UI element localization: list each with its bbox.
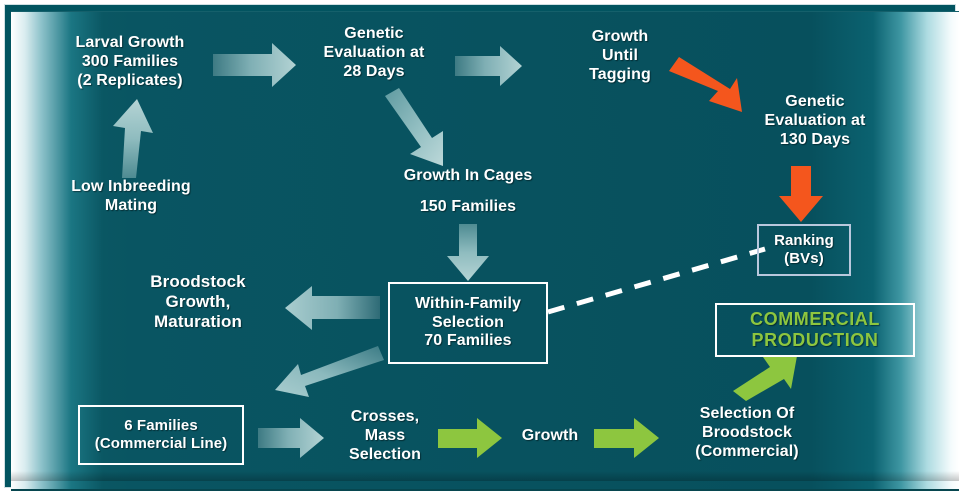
diagram-canvas: Larval Growth 300 Families (2 Replicates…	[0, 0, 960, 492]
node-ranking-bvs-label: Ranking (BVs)	[774, 232, 834, 267]
node-growth-in-cages: Growth In Cages	[378, 167, 558, 186]
node-selection-of-broodstock-commercial: Selection Of Broodstock (Commercial)	[662, 405, 832, 462]
node-growth-until-tagging: Growth Until Tagging	[560, 28, 680, 85]
node-commercial-production-label: COMMERCIAL PRODUCTION	[750, 309, 880, 351]
node-six-families-label: 6 Families (Commercial Line)	[95, 417, 228, 452]
node-growth-in-cages-family-count: 150 Families	[388, 198, 548, 217]
node-growth: Growth	[505, 427, 595, 446]
node-crosses-mass-selection: Crosses, Mass Selection	[330, 408, 440, 465]
node-commercial-production-box: COMMERCIAL PRODUCTION	[715, 303, 915, 357]
node-low-inbreeding-mating: Low Inbreeding Mating	[36, 178, 226, 216]
node-six-families-box: 6 Families (Commercial Line)	[78, 405, 244, 465]
node-within-family-selection-box: Within-Family Selection 70 Families	[388, 282, 548, 364]
node-broodstock-growth-maturation: Broodstock Growth, Maturation	[108, 272, 288, 332]
node-within-family-selection-label: Within-Family Selection 70 Families	[415, 295, 521, 352]
node-genetic-evaluation-28-days: Genetic Evaluation at 28 Days	[294, 25, 454, 82]
node-ranking-bvs-box: Ranking (BVs)	[757, 224, 851, 276]
node-genetic-evaluation-130-days: Genetic Evaluation at 130 Days	[735, 93, 895, 150]
node-larval-growth: Larval Growth 300 Families (2 Replicates…	[40, 34, 220, 91]
